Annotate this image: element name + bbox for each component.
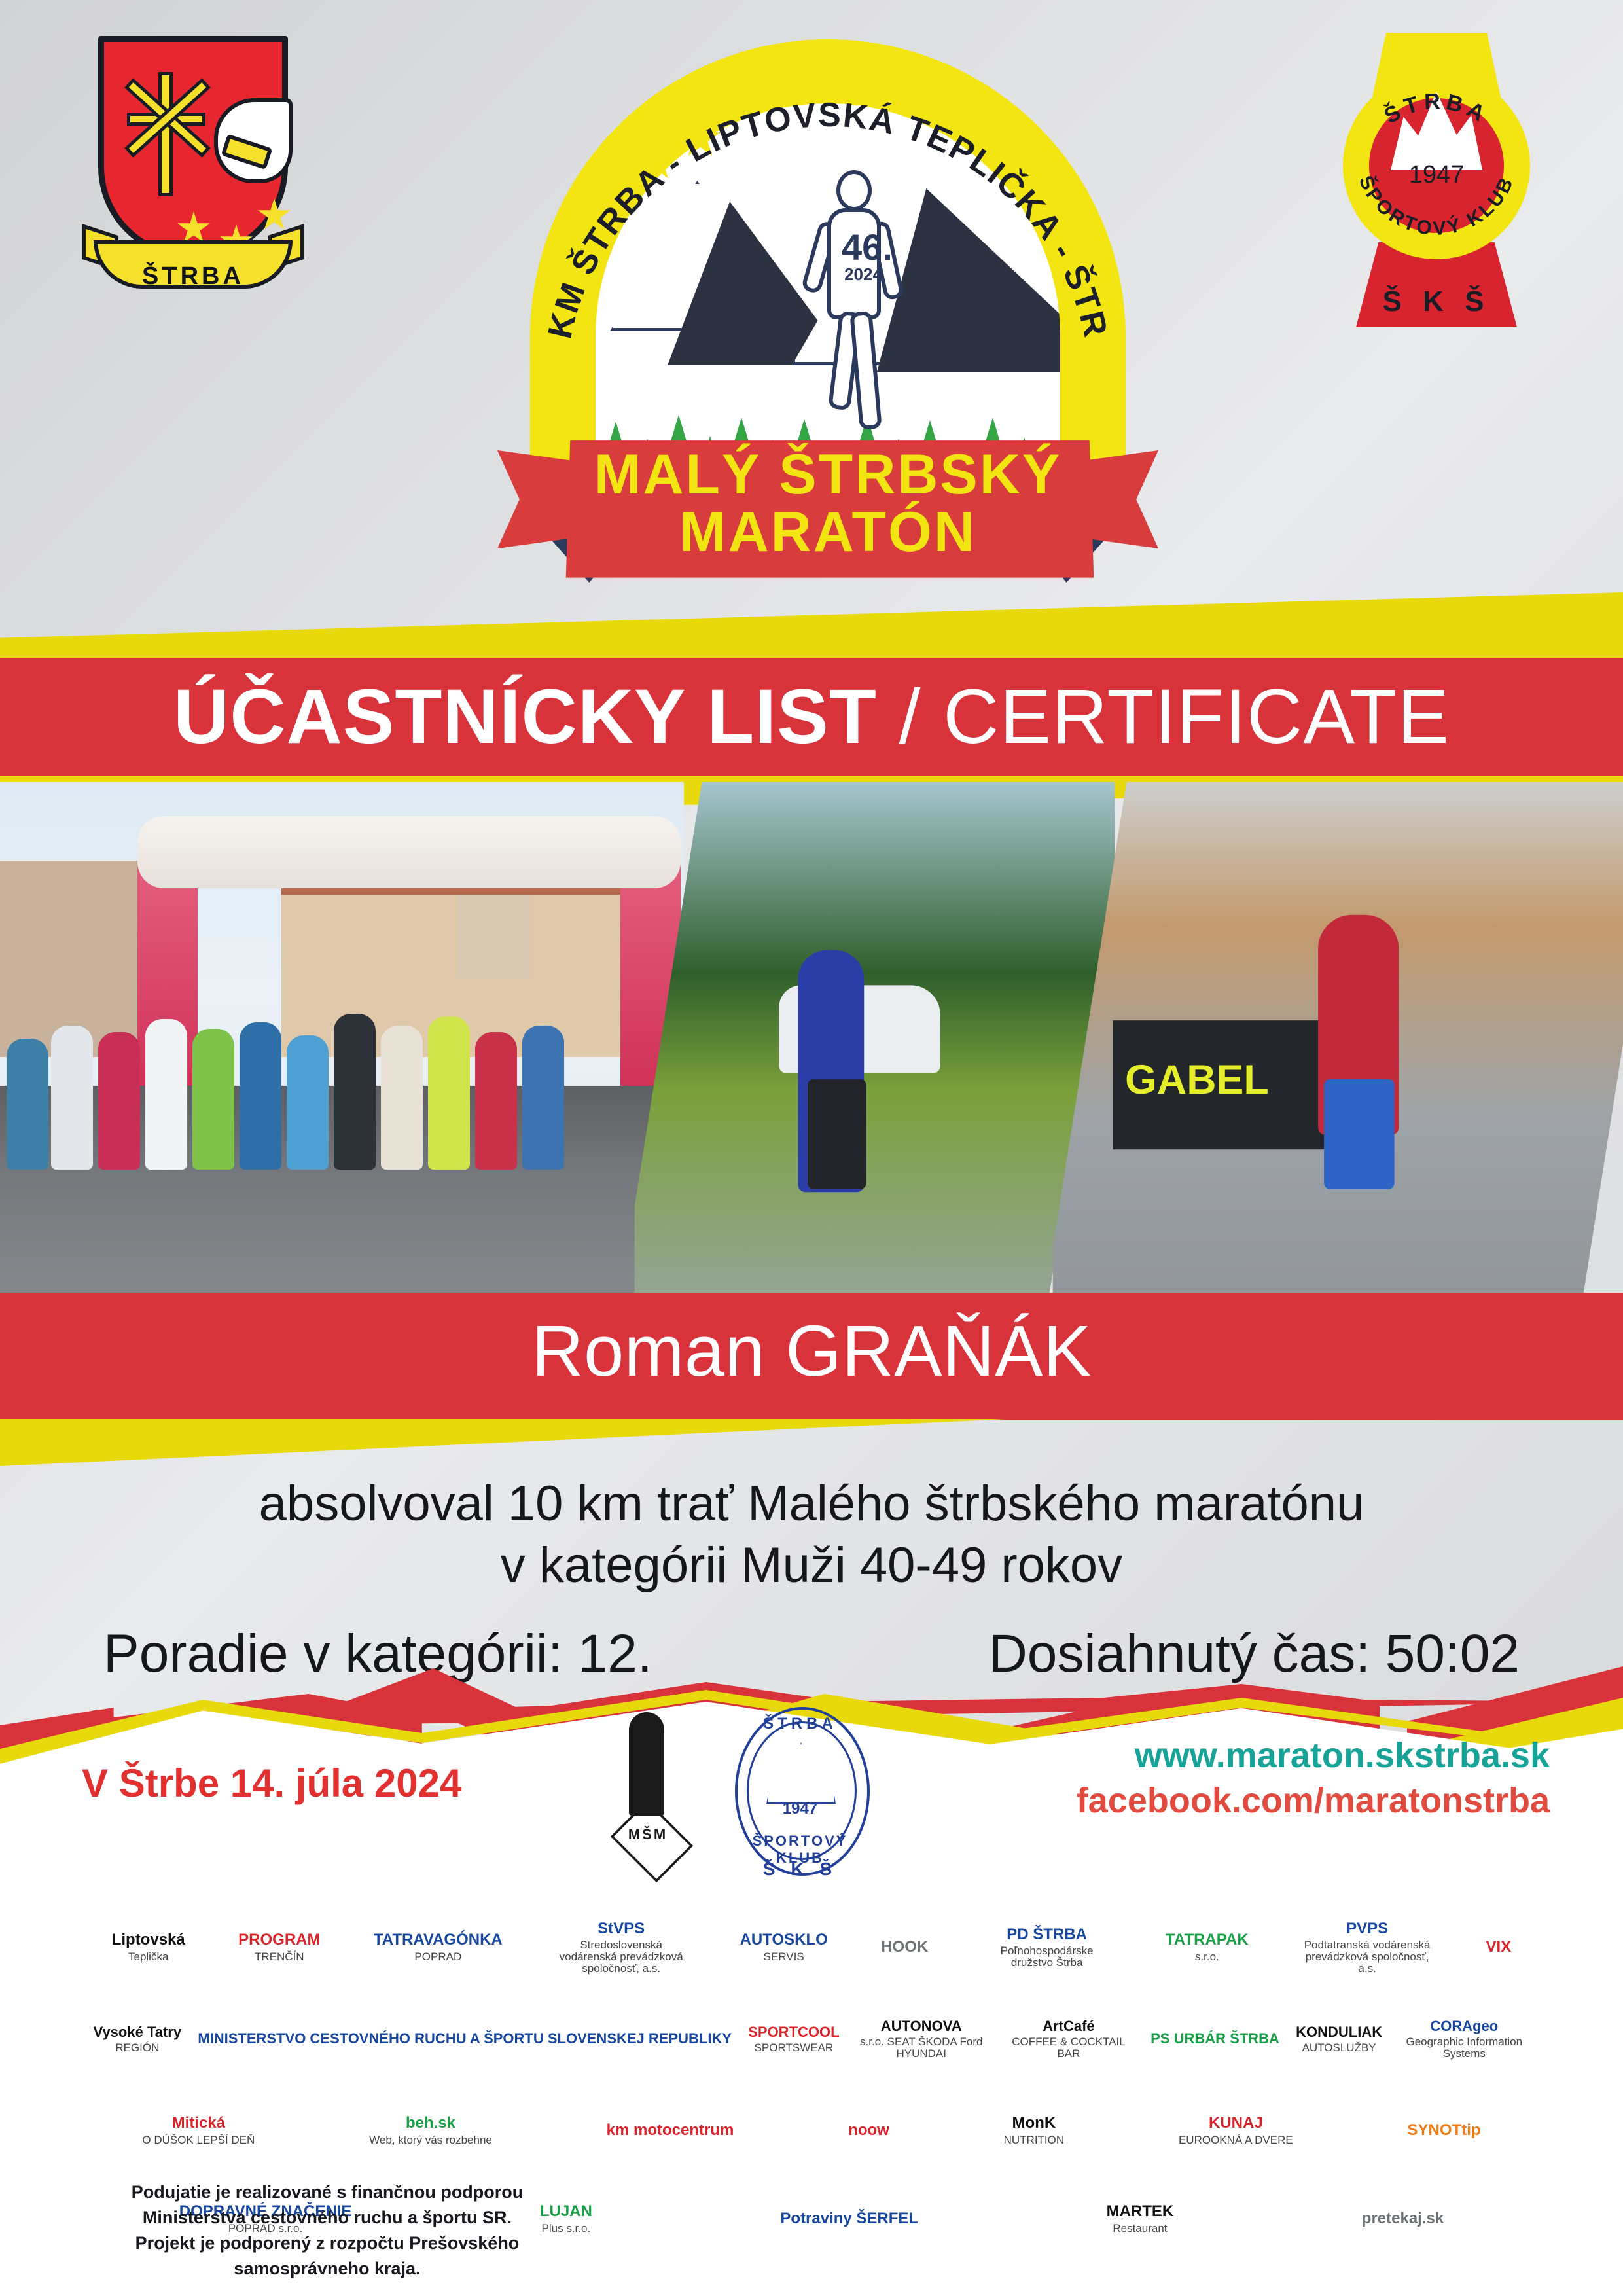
race-logo: 46. 2024 31 KM ŠTRBA - LIPTOVSKÁ TEPLIČK… bbox=[497, 20, 1158, 628]
sponsor-subtext: TRENČÍN bbox=[255, 1951, 304, 1963]
sks-club-emblem: 1947 ŠTRBA ŠPORTOVÝ KLUB Š K Š bbox=[1329, 33, 1544, 327]
sponsor-subtext: Restaurant bbox=[1113, 2223, 1167, 2234]
sponsor-mark: PVPS bbox=[1346, 1920, 1388, 1937]
participant-name-banner: Roman GRAŇÁK bbox=[0, 1293, 1623, 1420]
sponsor-mark: SYNOTtip bbox=[1408, 2122, 1481, 2138]
footer-links: www.maraton.skstrba.sk facebook.com/mara… bbox=[1077, 1733, 1550, 1823]
title-bold: ÚČASTNÍCKY LIST bbox=[173, 673, 877, 760]
club-abbrev: Š K Š bbox=[1329, 285, 1544, 318]
sponsor-mark: MINISTERSTVO CESTOVNÉHO RUCHU A ŠPORTU S… bbox=[198, 2031, 732, 2046]
website-link[interactable]: www.maraton.skstrba.sk bbox=[1077, 1733, 1550, 1778]
sponsor-mark: Vysoké Tatry bbox=[94, 2024, 182, 2039]
runners-crowd bbox=[0, 950, 684, 1170]
sponsor-mark: HOOK bbox=[881, 1939, 928, 1955]
sponsor-row-1: LiptovskáTepličkaPROGRAMTRENČÍNTATRAVAGÓ… bbox=[0, 1905, 1623, 1990]
sponsor-logo: TATRAVAGÓNKAPOPRAD bbox=[374, 1931, 503, 1962]
msm-logo: MŠM bbox=[592, 1707, 704, 1871]
support-line: Ministerstva cestovného ruchu a športu S… bbox=[85, 2205, 569, 2231]
sponsor-mark: VIX bbox=[1486, 1939, 1512, 1955]
header-logo-band: ŠTRBA bbox=[0, 0, 1623, 632]
sponsor-subtext: Poľnohospodárske družstvo Štrba bbox=[982, 1945, 1113, 1969]
sponsor-mark: MonK bbox=[1012, 2115, 1056, 2131]
sponsor-logo: MonKNUTRITION bbox=[1004, 2115, 1065, 2145]
sponsor-logo: MINISTERSTVO CESTOVNÉHO RUCHU A ŠPORTU S… bbox=[198, 2031, 732, 2046]
support-line: Podujatie je realizované s finančnou pod… bbox=[85, 2179, 569, 2205]
photo-finish-runner: GABEL bbox=[1044, 782, 1623, 1306]
sponsor-mark: PS URBÁR ŠTRBA bbox=[1150, 2031, 1279, 2046]
sponsor-logo: km motocentrum bbox=[607, 2122, 734, 2138]
sponsor-row-3: MitickáO DÚŠOK LEPŠÍ DEŇbeh.skWeb, ktorý… bbox=[0, 2088, 1623, 2173]
sponsor-logo: MARTEKRestaurant bbox=[1107, 2203, 1174, 2234]
sponsor-mark: TATRAVAGÓNKA bbox=[374, 1931, 503, 1948]
sponsor-logo: TATRAPAKs.r.o. bbox=[1166, 1931, 1249, 1962]
sks-footer-year: 1947 bbox=[730, 1800, 870, 1818]
sponsor-logo: LiptovskáTeplička bbox=[112, 1931, 185, 1962]
cross-group-icon bbox=[118, 72, 216, 196]
sponsor-mark: AUTOSKLO bbox=[740, 1931, 828, 1948]
photo-strip: GABEL bbox=[0, 782, 1623, 1306]
sponsor-subtext: O DÚŠOK LEPŠÍ DEŇ bbox=[142, 2134, 255, 2146]
sponsor-mark: KONDULIAK bbox=[1296, 2024, 1382, 2039]
sponsor-logo: SPORTCOOLSPORTSWEAR bbox=[748, 2024, 839, 2054]
msm-logo-text: MŠM bbox=[592, 1826, 704, 1843]
result-details: absolvoval 10 km trať Malého štrbského m… bbox=[0, 1460, 1623, 1695]
title-light: / CERTIFICATE bbox=[877, 673, 1450, 760]
sponsor-subtext: EUROOKNÁ A DVERE bbox=[1179, 2134, 1293, 2146]
support-statement: Podujatie je realizované s finančnou pod… bbox=[85, 2179, 569, 2282]
sponsor-logo: pretekaj.sk bbox=[1362, 2210, 1444, 2227]
sponsor-mark: km motocentrum bbox=[607, 2122, 734, 2138]
edition-number: 46. 2024 bbox=[842, 229, 885, 283]
sponsor-logo: Vysoké TatryREGIÓN bbox=[94, 2024, 182, 2054]
sponsor-subtext: POPRAD bbox=[414, 1951, 461, 1963]
sponsor-logo: PS URBÁR ŠTRBA bbox=[1150, 2031, 1279, 2046]
sponsor-subtext: AUTOSLUŽBY bbox=[1302, 2042, 1376, 2054]
sponsor-logo: PD ŠTRBAPoľnohospodárske družstvo Štrba bbox=[982, 1926, 1113, 1969]
sponsor-mark: StVPS bbox=[597, 1920, 645, 1937]
sponsor-logo: HOOK bbox=[881, 1939, 928, 1955]
sponsor-subtext: Podtatranská vodárenská prevádzková spol… bbox=[1302, 1939, 1433, 1975]
support-line: Projekt je podporený z rozpočtu Prešovsk… bbox=[85, 2231, 569, 2282]
sponsor-logo: beh.skWeb, ktorý vás rozbehne bbox=[369, 2115, 492, 2145]
event-date: V Štrbe 14. júla 2024 bbox=[82, 1761, 461, 1806]
sponsor-mark: SPORTCOOL bbox=[748, 2024, 839, 2039]
sponsor-logo: CORAgeoGeographic Information Systems bbox=[1399, 2018, 1529, 2060]
sponsor-mark: Potraviny ŠERFEL bbox=[780, 2210, 918, 2227]
facebook-link[interactable]: facebook.com/maratonstrba bbox=[1077, 1778, 1550, 1823]
sponsor-logo: MitickáO DÚŠOK LEPŠÍ DEŇ bbox=[142, 2115, 255, 2145]
sponsor-logo: noow bbox=[848, 2122, 889, 2138]
sponsor-logo: StVPSStredoslovenská vodárenská prevádzk… bbox=[556, 1920, 687, 1975]
sponsor-mark: TATRAPAK bbox=[1166, 1931, 1249, 1948]
sponsor-subtext: Web, ktorý vás rozbehne bbox=[369, 2134, 492, 2146]
sponsor-subtext: SPORTSWEAR bbox=[755, 2042, 834, 2054]
photo-start-line bbox=[0, 782, 684, 1306]
sponsor-logo: ArtCaféCOFFEE & COCKTAIL BAR bbox=[1003, 2018, 1134, 2060]
sponsor-mark: CORAgeo bbox=[1430, 2018, 1498, 2034]
sponsor-row-2: Vysoké TatryREGIÓNMINISTERSTVO CESTOVNÉH… bbox=[0, 1996, 1623, 2081]
sponsor-mark: PD ŠTRBA bbox=[1007, 1926, 1087, 1943]
sponsor-mark: noow bbox=[848, 2122, 889, 2138]
sponsor-mark: MARTEK bbox=[1107, 2203, 1174, 2219]
sks-footer-logo: ŠTRBA 1947 ŠPORTOVÝ KLUB Š K Š bbox=[730, 1702, 870, 1878]
result-line-1: absolvoval 10 km trať Malého štrbského m… bbox=[0, 1475, 1623, 1532]
sponsor-mark: Liptovská bbox=[112, 1931, 185, 1948]
sponsor-subtext: SERVIS bbox=[764, 1951, 804, 1963]
sponsor-logo: PVPSPodtatranská vodárenská prevádzková … bbox=[1302, 1920, 1433, 1975]
sponsor-subtext: COFFEE & COCKTAIL BAR bbox=[1003, 2036, 1134, 2060]
sponsor-mark: AUTONOVA bbox=[881, 2018, 962, 2034]
logo-title-line2: MARATÓN bbox=[497, 504, 1158, 562]
sponsor-logo: VIX bbox=[1486, 1939, 1512, 1955]
sponsor-logo: AUTOSKLOSERVIS bbox=[740, 1931, 828, 1962]
sponsor-mark: KUNAJ bbox=[1209, 2115, 1263, 2131]
logo-red-ribbon: MALÝ ŠTRBSKÝ MARATÓN bbox=[497, 425, 1158, 609]
logo-title-line1: MALÝ ŠTRBSKÝ bbox=[497, 446, 1158, 504]
sponsor-logo: PROGRAMTRENČÍN bbox=[238, 1931, 320, 1962]
club-arc-text-svg: ŠTRBA ŠPORTOVÝ KLUB bbox=[1329, 33, 1544, 327]
sponsor-logo: SYNOTtip bbox=[1408, 2122, 1481, 2138]
sks-footer-abbrev: Š K Š bbox=[730, 1859, 870, 1880]
obec-strba-coat-of-arms: ŠTRBA bbox=[82, 36, 304, 331]
runner-silhouette-icon: 46. 2024 bbox=[811, 143, 897, 470]
sponsor-mark: ArtCafé bbox=[1043, 2018, 1094, 2034]
sponsor-subtext: s.r.o. bbox=[1195, 1951, 1219, 1963]
sponsor-subtext: Stredoslovenská vodárenská prevádzková s… bbox=[556, 1939, 687, 1975]
sponsor-mark: pretekaj.sk bbox=[1362, 2210, 1444, 2227]
sponsor-subtext: NUTRITION bbox=[1004, 2134, 1065, 2146]
sponsor-logo: Potraviny ŠERFEL bbox=[780, 2210, 918, 2227]
sponsor-logo: KUNAJEUROOKNÁ A DVERE bbox=[1179, 2115, 1293, 2145]
ribbon-banner: ŠTRBA bbox=[82, 224, 304, 302]
certificate-page: ŠTRBA bbox=[0, 0, 1623, 2296]
sponsor-subtext: REGIÓN bbox=[115, 2042, 159, 2054]
coat-caption: ŠTRBA bbox=[82, 262, 304, 291]
sponsor-subtext: Geographic Information Systems bbox=[1399, 2036, 1529, 2060]
sponsor-mark: Mitická bbox=[172, 2115, 225, 2131]
svg-text:ŠPORTOVÝ KLUB: ŠPORTOVÝ KLUB bbox=[1355, 172, 1518, 240]
sponsor-subtext: Teplička bbox=[128, 1951, 168, 1963]
photo-female-runner bbox=[619, 782, 1131, 1306]
sks-footer-top: ŠTRBA bbox=[730, 1715, 870, 1733]
result-line-2: v kategórii Muži 40-49 rokov bbox=[0, 1537, 1623, 1594]
sponsor-subtext: s.r.o. SEAT ŠKODA Ford HYUNDAI bbox=[856, 2036, 987, 2060]
certificate-title-banner: ÚČASTNÍCKY LIST / CERTIFICATE bbox=[0, 658, 1623, 776]
svg-text:ŠTRBA: ŠTRBA bbox=[1380, 89, 1493, 129]
sponsor-mark: beh.sk bbox=[406, 2115, 455, 2131]
sponsor-mark: PROGRAM bbox=[238, 1931, 320, 1948]
sponsor-logo: AUTONOVAs.r.o. SEAT ŠKODA Ford HYUNDAI bbox=[856, 2018, 987, 2060]
sponsor-logo: KONDULIAKAUTOSLUŽBY bbox=[1296, 2024, 1382, 2054]
participant-name: Roman GRAŇÁK bbox=[0, 1310, 1623, 1393]
